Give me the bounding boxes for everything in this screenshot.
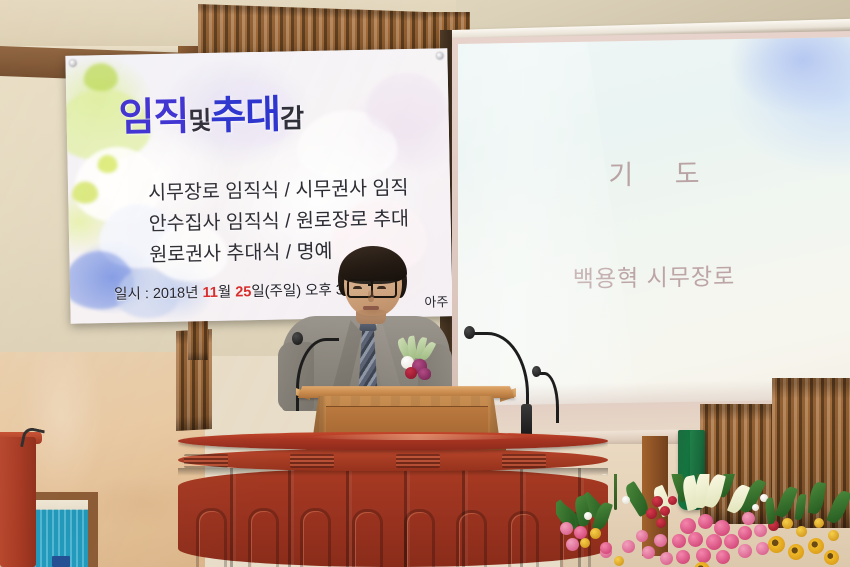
pulpit-platform-rail (178, 432, 608, 567)
corsage-purple-flower (418, 368, 431, 380)
flower-pink (698, 514, 713, 529)
flower-rose (642, 546, 655, 559)
slide-title: 기 도 (458, 149, 850, 195)
flower-pink (706, 534, 722, 550)
flower-rose (738, 544, 752, 558)
chin-shadow (356, 309, 388, 317)
rail-fluting (290, 454, 334, 468)
glasses-bridge (368, 284, 373, 286)
rail-arch-panel (456, 510, 487, 567)
flower-pink (600, 542, 612, 554)
rail-arch-panel (352, 509, 383, 567)
greenery-leaf (573, 495, 593, 527)
rail-highlight (308, 434, 528, 440)
banner-title-part1: 임직 (118, 95, 189, 139)
flower-red (652, 496, 663, 507)
greenery-leaf (808, 481, 826, 515)
flower-red (660, 506, 670, 516)
flower-white (600, 474, 609, 475)
flower-red (668, 496, 677, 505)
flower-rose (754, 524, 767, 537)
rail-fluting (396, 454, 440, 468)
rail-handrail (178, 432, 608, 450)
banner-petal (97, 155, 117, 173)
banner-title-part4: 감 (280, 103, 304, 133)
banner-title-part3: 추대 (210, 94, 281, 138)
flower-yellow (796, 526, 807, 537)
banner-date-day: 25 (235, 284, 251, 300)
doorway-blue-object (52, 556, 70, 567)
greenery-leaf (592, 501, 613, 532)
nose (368, 290, 374, 302)
banner-petal (72, 181, 98, 204)
banner-grommet-icon (69, 60, 76, 67)
microphone-capsule-right (464, 326, 475, 339)
banner-title: 임직및추대감 (118, 92, 449, 138)
rail-arch-panel (196, 508, 227, 567)
eye-left (353, 286, 362, 289)
flower-rose (742, 512, 755, 525)
sunflower (788, 544, 804, 560)
flower-pink (724, 534, 739, 549)
photograph-church-ordination-ceremony: 임직및추대감 시무장로 임직식 / 시무권사 임직 안수집사 임직식 / 원로장… (0, 0, 850, 567)
rail-arch-panel (508, 511, 539, 567)
rail-arch-panel (248, 508, 279, 567)
banner-line-2: 안수집사 임직식 / 원로장로 추대 (148, 203, 452, 240)
flower-pink (716, 550, 730, 564)
flower-red (656, 518, 666, 528)
rail-body (178, 468, 608, 567)
flower-white (752, 504, 759, 511)
flower-pink (738, 526, 752, 540)
rail-fluting (184, 454, 228, 468)
left-pulpit-stand (0, 437, 36, 567)
flower-rose (654, 534, 667, 547)
flower-pink (672, 534, 686, 548)
banner-date-prefix: 일시 : 2018년 (114, 285, 199, 303)
flower-yellow (828, 530, 839, 541)
greenery-leaf (826, 489, 850, 526)
slide-subtitle: 백용혁 시무장로 (458, 255, 850, 296)
flower-yellow (590, 528, 601, 539)
sunflower (808, 538, 824, 554)
flower-red (646, 508, 657, 519)
banner-title-part2: 및 (188, 107, 211, 135)
corsage-boutonniere (398, 336, 434, 380)
flower-rose (660, 552, 673, 565)
eye-right (377, 286, 386, 289)
flower-rose (560, 522, 573, 535)
sunflower (824, 550, 839, 565)
flower-pink (688, 532, 703, 547)
flower-yellow (814, 518, 824, 528)
greenery-leaf (764, 497, 777, 524)
floral-arrangement-left (556, 494, 626, 567)
flower-white (584, 512, 592, 520)
flower-yellow (782, 518, 793, 529)
flower-pink (676, 550, 690, 564)
banner-date-month: 11 (202, 285, 218, 301)
rail-arch-panel (404, 509, 435, 567)
flower-pink (574, 526, 587, 539)
rail-fluting (502, 454, 546, 468)
banner-date-month-suffix: 월 (218, 285, 232, 301)
flower-rose (636, 530, 648, 542)
microphone-capsule-far-right (532, 366, 541, 377)
rail-arch-panel (300, 508, 331, 567)
flower-rose (566, 538, 579, 551)
sunflower (768, 536, 785, 553)
sunflower (694, 562, 710, 567)
greenery-leaf (795, 494, 807, 521)
microphone-capsule-left (292, 332, 303, 345)
corsage-red-flower (405, 367, 417, 379)
banner-petal (84, 63, 119, 92)
flower-pink (696, 548, 711, 563)
